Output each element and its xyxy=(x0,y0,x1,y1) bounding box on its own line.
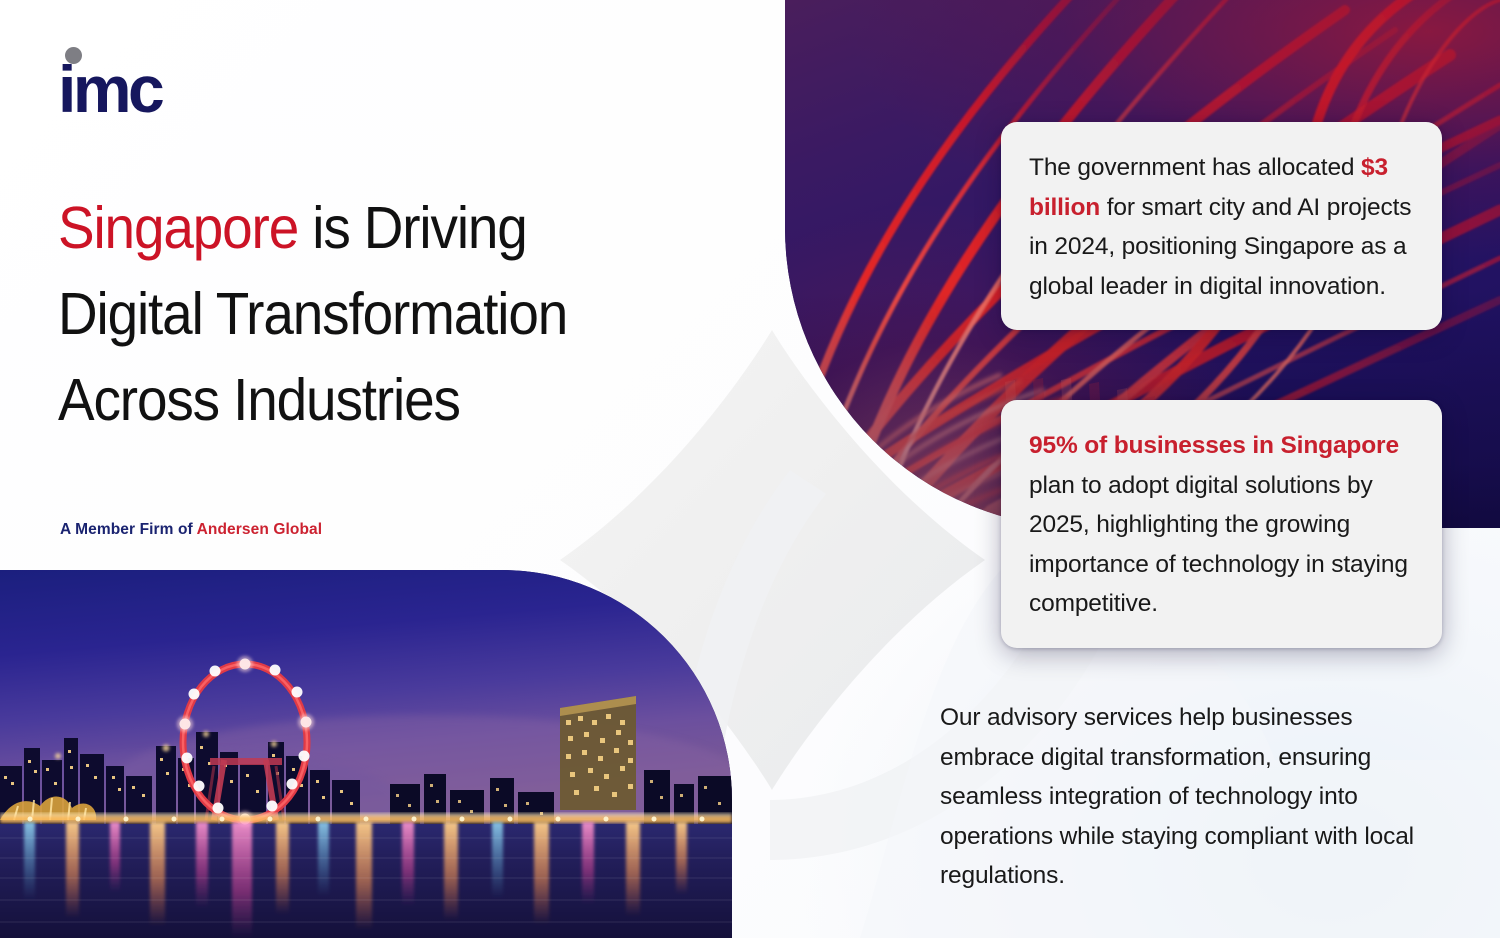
page-title: Singapore is Driving Digital Transformat… xyxy=(58,185,672,443)
stat-card-2-tail: plan to adopt digital solutions by 2025,… xyxy=(1029,472,1408,618)
logo-wordmark: imc xyxy=(58,56,161,122)
headline-line2: Digital Transformation xyxy=(58,281,567,347)
stat-card-1-lead: The government has allocated xyxy=(1029,154,1361,181)
stat-card-2-highlight: 95% of businesses in Singapore xyxy=(1029,432,1399,459)
headline-line3: Across Industries xyxy=(58,367,460,433)
member-firm-line: A Member Firm of Andersen Global xyxy=(60,521,322,539)
stat-card: The government has allocated $3 billion … xyxy=(1001,122,1442,330)
headline-line1-rest: is Driving xyxy=(298,195,527,261)
closing-paragraph: Our advisory services help businesses em… xyxy=(940,698,1448,896)
singapore-skyline-photo xyxy=(0,570,732,938)
imc-logo[interactable]: imc xyxy=(58,47,258,125)
marina-bay-sands xyxy=(560,696,636,810)
skyline-illustration xyxy=(0,570,732,938)
poster-canvas: imc Singapore is Driving Digital Transfo… xyxy=(0,0,1500,938)
headline-accent-word: Singapore xyxy=(58,195,298,261)
stat-card: 95% of businesses in Singapore plan to a… xyxy=(1001,400,1442,648)
andersen-global-name: Andersen Global xyxy=(197,521,323,538)
member-firm-prefix: A Member Firm of xyxy=(60,521,197,538)
